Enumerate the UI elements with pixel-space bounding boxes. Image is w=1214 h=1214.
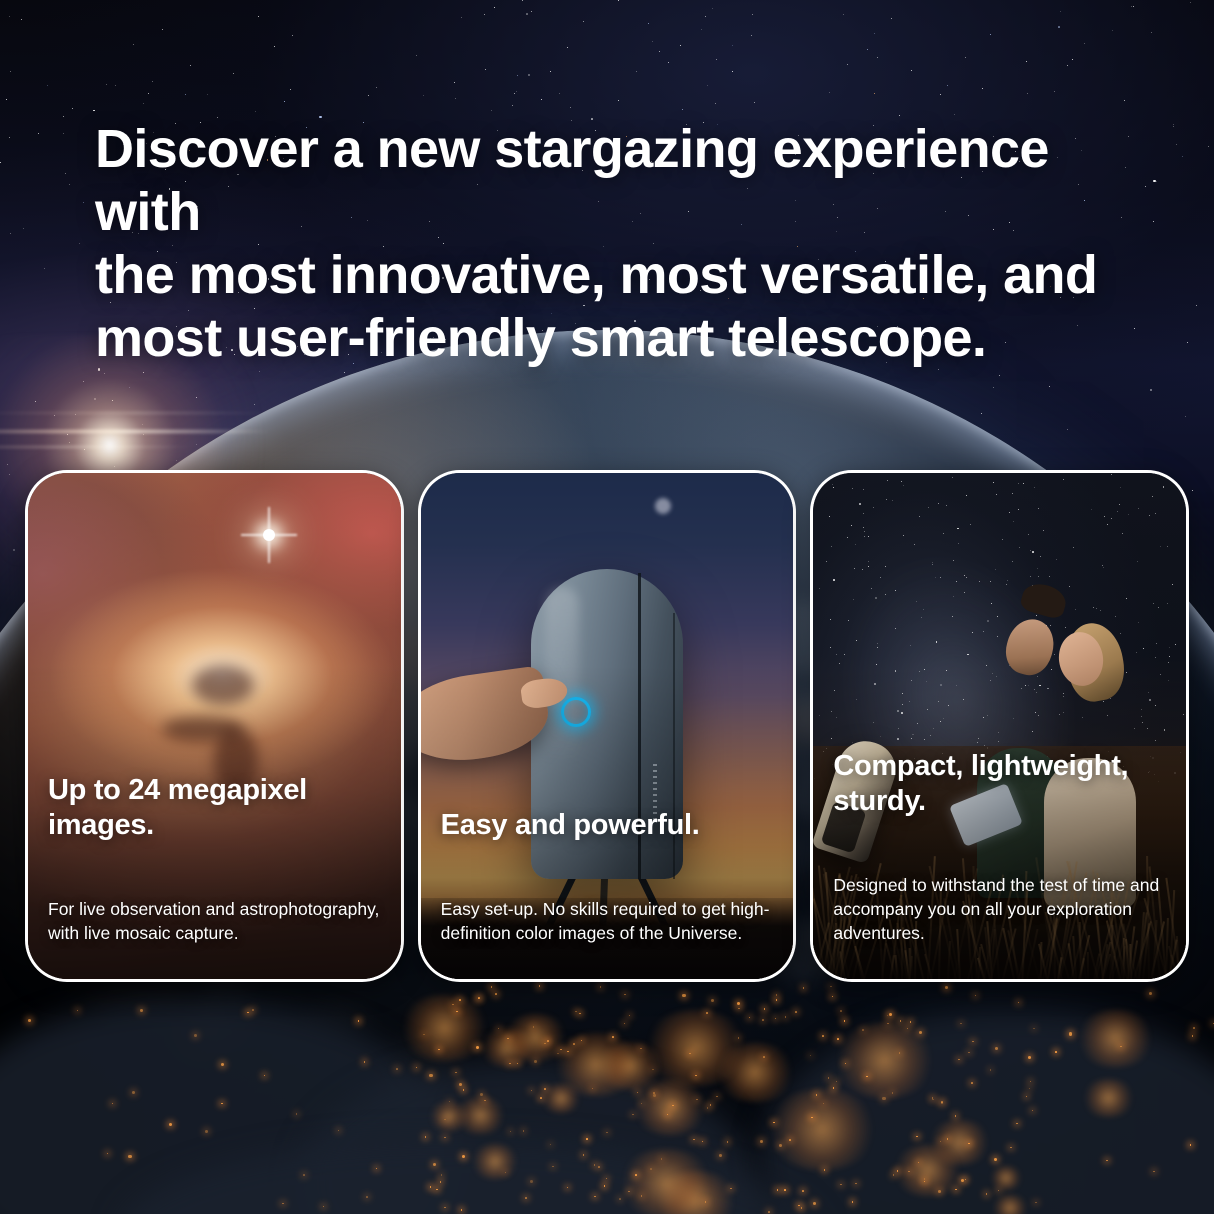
page-title: Discover a new stargazing experience wit… — [95, 118, 1155, 370]
lens-flare-streak-2 — [0, 446, 190, 448]
card-title: Up to 24 megapixel images. — [48, 773, 381, 843]
card-text-block: Up to 24 megapixel images. For live obse… — [28, 773, 401, 979]
headline-line-1: Discover a new stargazing experience wit… — [95, 118, 1155, 244]
card-description: For live observation and astrophotograph… — [48, 897, 381, 945]
moon-icon — [655, 498, 671, 514]
promo-banner: Discover a new stargazing experience wit… — [0, 0, 1214, 1214]
headline-line-3: most user-friendly smart telescope. — [95, 307, 1155, 370]
card-text-block: Easy and powerful. Easy set-up. No skill… — [421, 808, 794, 979]
card-text-block: Compact, lightweight, sturdy. Designed t… — [813, 749, 1186, 979]
card-title: Easy and powerful. — [441, 808, 774, 843]
feature-card-compact[interactable]: Compact, lightweight, sturdy. Designed t… — [810, 470, 1189, 982]
feature-card-megapixel[interactable]: Up to 24 megapixel images. For live obse… — [25, 470, 404, 982]
power-button-icon[interactable] — [561, 697, 591, 727]
card-description: Easy set-up. No skills required to get h… — [441, 897, 774, 945]
feature-card-easy-powerful[interactable]: Easy and powerful. Easy set-up. No skill… — [418, 470, 797, 982]
headline-line-2: the most innovative, most versatile, and — [95, 244, 1155, 307]
lens-flare-streak-3 — [0, 412, 270, 414]
card-description: Designed to withstand the test of time a… — [833, 873, 1166, 945]
card-title: Compact, lightweight, sturdy. — [833, 749, 1166, 819]
feature-card-row: Up to 24 megapixel images. For live obse… — [25, 470, 1189, 982]
lens-flare-streak-1 — [0, 430, 270, 433]
bright-star-icon — [263, 529, 275, 541]
